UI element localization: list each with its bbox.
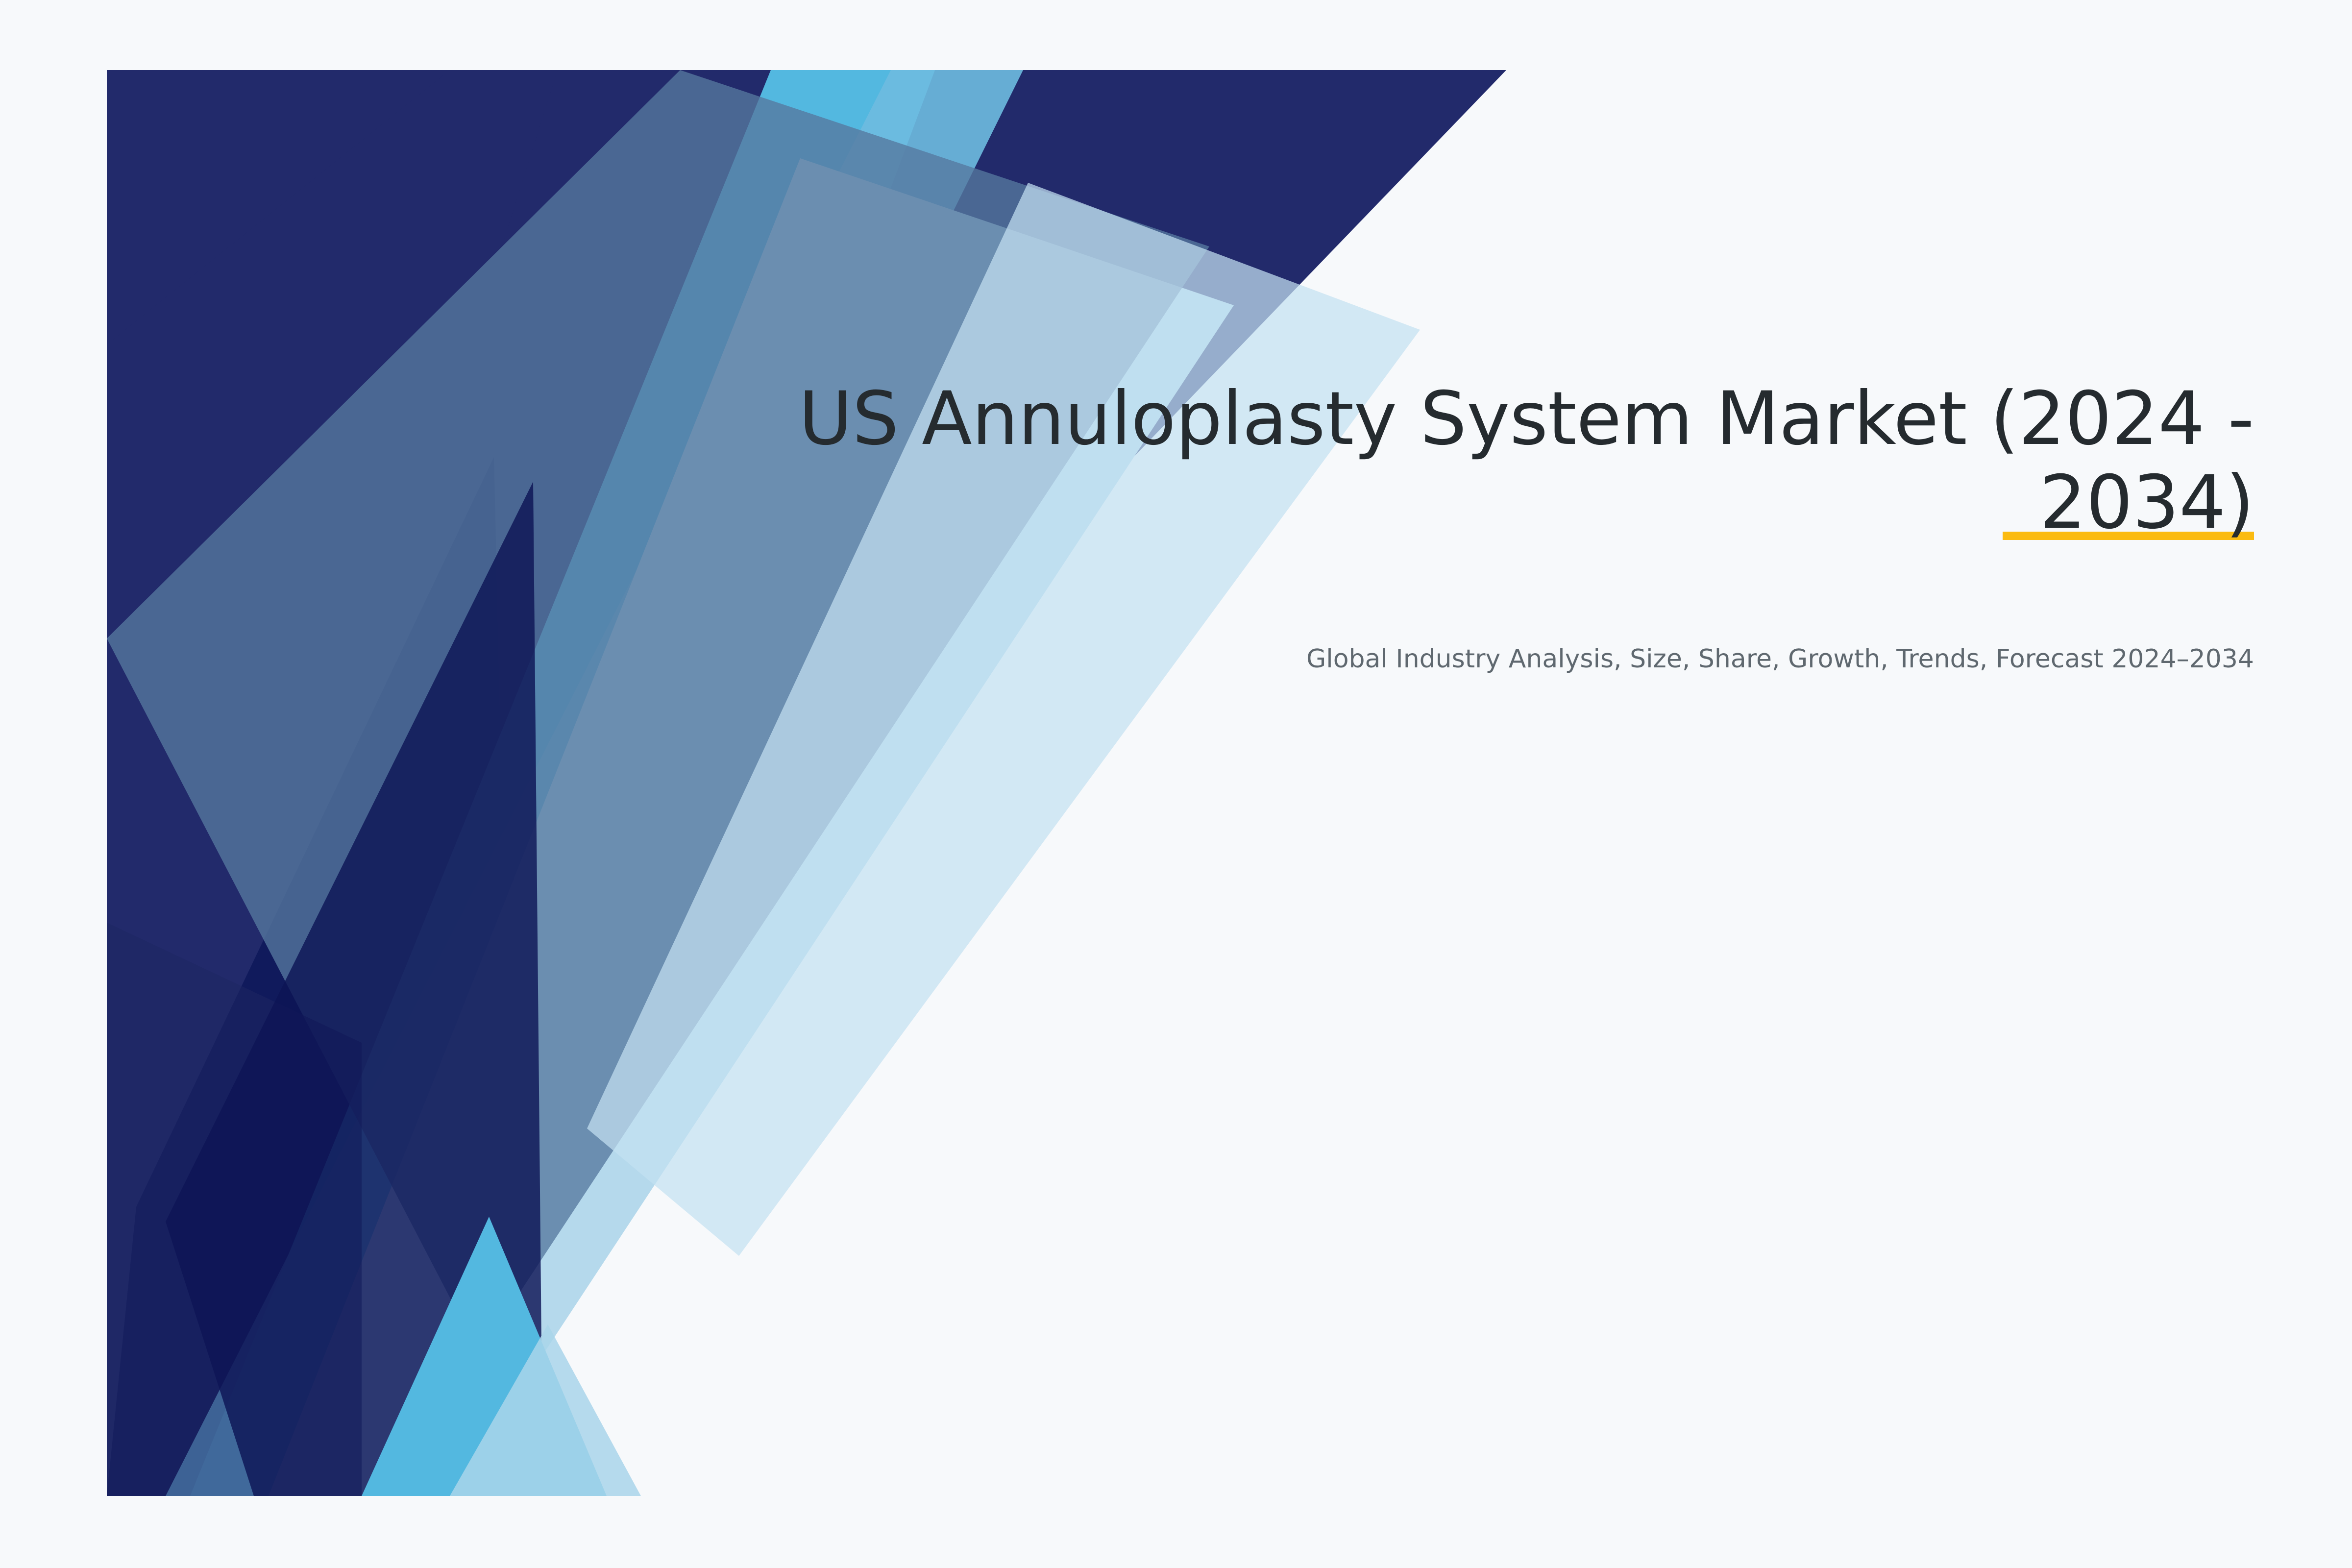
report-cover: US Annuloplasty System Market (2024 - 20… xyxy=(0,0,2352,1568)
abstract-geometric-graphic xyxy=(107,70,1506,1496)
cover-text-block: US Annuloplasty System Market (2024 - 20… xyxy=(759,377,2254,677)
cover-artwork xyxy=(107,70,1506,1496)
page-title: US Annuloplasty System Market (2024 - 20… xyxy=(759,377,2254,545)
page-subtitle: Global Industry Analysis, Size, Share, G… xyxy=(759,545,2254,677)
